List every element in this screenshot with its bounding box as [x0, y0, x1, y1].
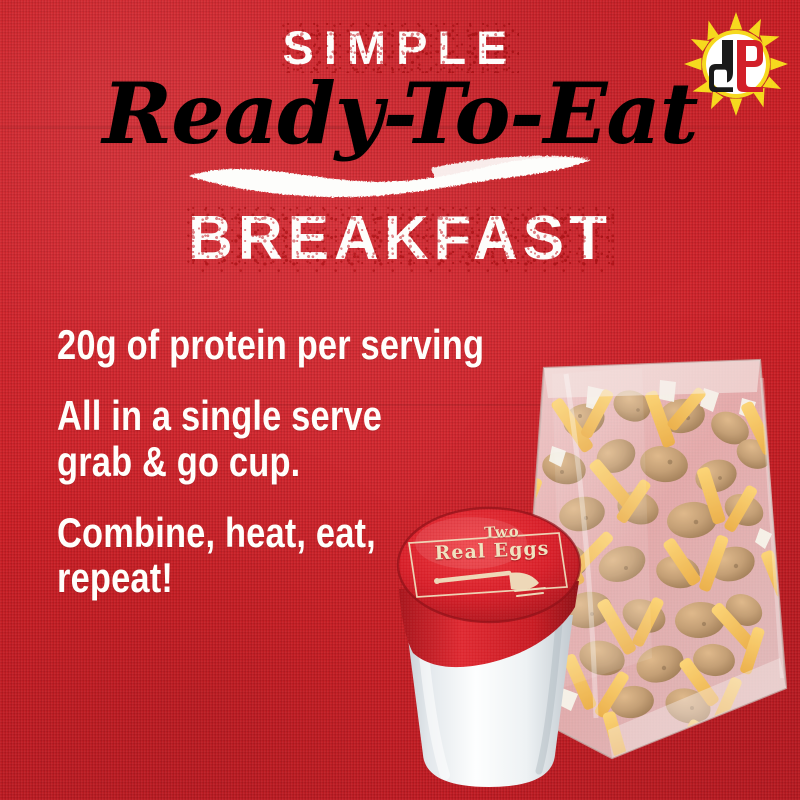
headline-script-text: Ready-To-Eat: [102, 64, 697, 163]
copy-line: 20g of protein per serving: [57, 322, 385, 367]
copy-paragraph-single-serve: All in a single serve grab & go cup.: [57, 393, 457, 484]
copy-line: repeat!: [57, 555, 385, 600]
ad-creative-canvas: SIMPLE Ready-To-Eat BREAKFAST: [0, 0, 800, 800]
copy-paragraph-protein: 20g of protein per serving: [57, 322, 457, 367]
copy-line: grab & go cup.: [57, 439, 385, 484]
egg-cup: [383, 503, 595, 793]
headline-script: Ready-To-Eat: [0, 70, 800, 158]
jimmy-dean-logo-icon: [684, 12, 788, 116]
headline-main: BREAKFAST: [0, 208, 800, 270]
copy-line: Combine, heat, eat,: [57, 510, 385, 555]
decorative-swash-icon: [185, 152, 595, 204]
copy-line: All in a single serve: [57, 393, 385, 438]
headline-main-text: BREAKFAST: [188, 208, 612, 270]
